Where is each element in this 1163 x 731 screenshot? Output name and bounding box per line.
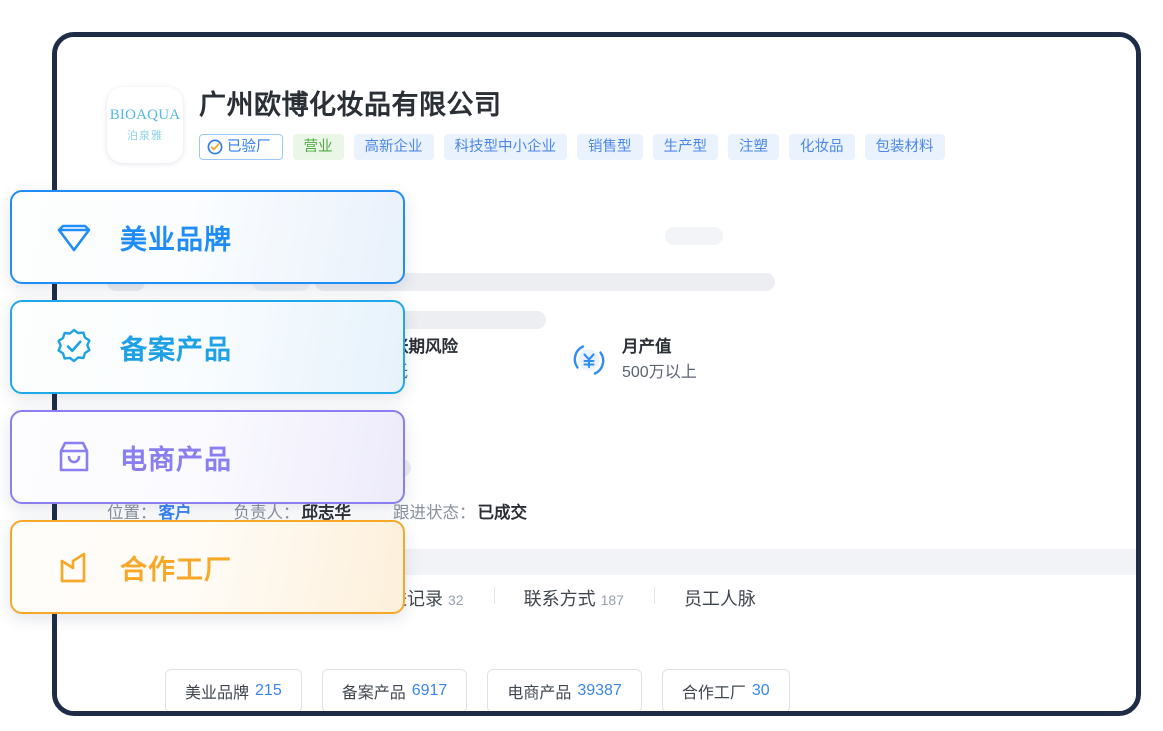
tab-label: 联系方式 bbox=[524, 585, 596, 611]
tab-count: 32 bbox=[448, 592, 464, 608]
chip-count: 39387 bbox=[577, 682, 622, 700]
tab-contact-methods[interactable]: 联系方式 187 bbox=[494, 585, 654, 611]
overlay-card-ecommerce-products[interactable]: 电商产品 bbox=[10, 410, 405, 504]
tag-production-type[interactable]: 生产型 bbox=[653, 134, 719, 160]
chip-row: 美业品牌 215 备案产品 6917 电商产品 39387 合作工厂 30 bbox=[165, 669, 790, 713]
logo-wordmark: BIOAQUA bbox=[110, 108, 181, 123]
tag-business-status[interactable]: 营业 bbox=[293, 134, 344, 160]
overlay-card-partner-factories[interactable]: 合作工厂 bbox=[10, 520, 405, 614]
chip-count: 6917 bbox=[412, 682, 448, 700]
overlay-card-label: 合作工厂 bbox=[120, 548, 232, 587]
overlay-card-label: 备案产品 bbox=[120, 328, 232, 367]
chip-label: 备案产品 bbox=[342, 679, 406, 703]
tag-sme-tech[interactable]: 科技型中小企业 bbox=[444, 134, 568, 160]
company-logo: BIOAQUA 泊泉雅 bbox=[107, 87, 183, 163]
tag-verified-factory[interactable]: 已验厂 bbox=[199, 134, 283, 160]
tab-employee-network[interactable]: 员工人脉 bbox=[654, 585, 786, 611]
overlay-card-label: 电商产品 bbox=[120, 438, 232, 477]
check-circle-icon bbox=[207, 139, 223, 155]
company-header-text: 广州欧博化妆品有限公司 已验厂 营业 高新企 bbox=[199, 87, 945, 160]
tag-sales-type[interactable]: 销售型 bbox=[577, 134, 643, 160]
info-value: 已成交 bbox=[478, 499, 528, 523]
verified-rosette-icon bbox=[54, 327, 94, 367]
metric-monthly-output: 月产值 500万以上 bbox=[567, 337, 797, 382]
overlay-card-label: 美业品牌 bbox=[120, 218, 232, 257]
screenshot-root: BIOAQUA 泊泉雅 广州欧博化妆品有限公司 bbox=[0, 0, 1163, 731]
chip-label: 电商产品 bbox=[507, 679, 571, 703]
chip-ecommerce-products[interactable]: 电商产品 39387 bbox=[487, 669, 642, 713]
chip-count: 215 bbox=[255, 682, 282, 700]
chip-beauty-brands[interactable]: 美业品牌 215 bbox=[165, 669, 302, 713]
logo-subtext: 泊泉雅 bbox=[127, 127, 163, 143]
company-name: 广州欧博化妆品有限公司 bbox=[199, 90, 945, 121]
metric-value: 500万以上 bbox=[622, 363, 697, 382]
factory-icon bbox=[54, 547, 94, 587]
metric-title: 月产值 bbox=[622, 337, 697, 358]
tag-label: 已验厂 bbox=[227, 135, 271, 159]
tag-packaging-material[interactable]: 包装材料 bbox=[865, 134, 945, 160]
overlay-card-registered-products[interactable]: 备案产品 bbox=[10, 300, 405, 394]
overlay-card-beauty-brands[interactable]: 美业品牌 bbox=[10, 190, 405, 284]
tag-cosmetics[interactable]: 化妆品 bbox=[789, 134, 855, 160]
chip-label: 合作工厂 bbox=[682, 679, 746, 703]
info-follow-status: 跟进状态： 已成交 bbox=[393, 499, 527, 523]
company-tag-row: 已验厂 营业 高新企业 科技型中小企业 销售型 生产型 注塑 化妆品 包装材料 bbox=[199, 134, 945, 160]
tag-injection-molding[interactable]: 注塑 bbox=[728, 134, 779, 160]
tag-high-tech[interactable]: 高新企业 bbox=[354, 134, 434, 160]
tab-count: 187 bbox=[601, 592, 624, 608]
skeleton-bar bbox=[665, 227, 723, 245]
company-header: BIOAQUA 泊泉雅 广州欧博化妆品有限公司 bbox=[107, 87, 945, 163]
chip-registered-products[interactable]: 备案产品 6917 bbox=[322, 669, 468, 713]
info-label: 跟进状态： bbox=[393, 499, 476, 523]
tab-label: 员工人脉 bbox=[684, 585, 756, 611]
yen-refresh-icon bbox=[567, 338, 609, 380]
chip-partner-factories[interactable]: 合作工厂 30 bbox=[662, 669, 790, 713]
diamond-icon bbox=[54, 217, 94, 257]
shopping-bag-icon bbox=[54, 437, 94, 477]
chip-count: 30 bbox=[752, 682, 770, 700]
chip-label: 美业品牌 bbox=[185, 679, 249, 703]
